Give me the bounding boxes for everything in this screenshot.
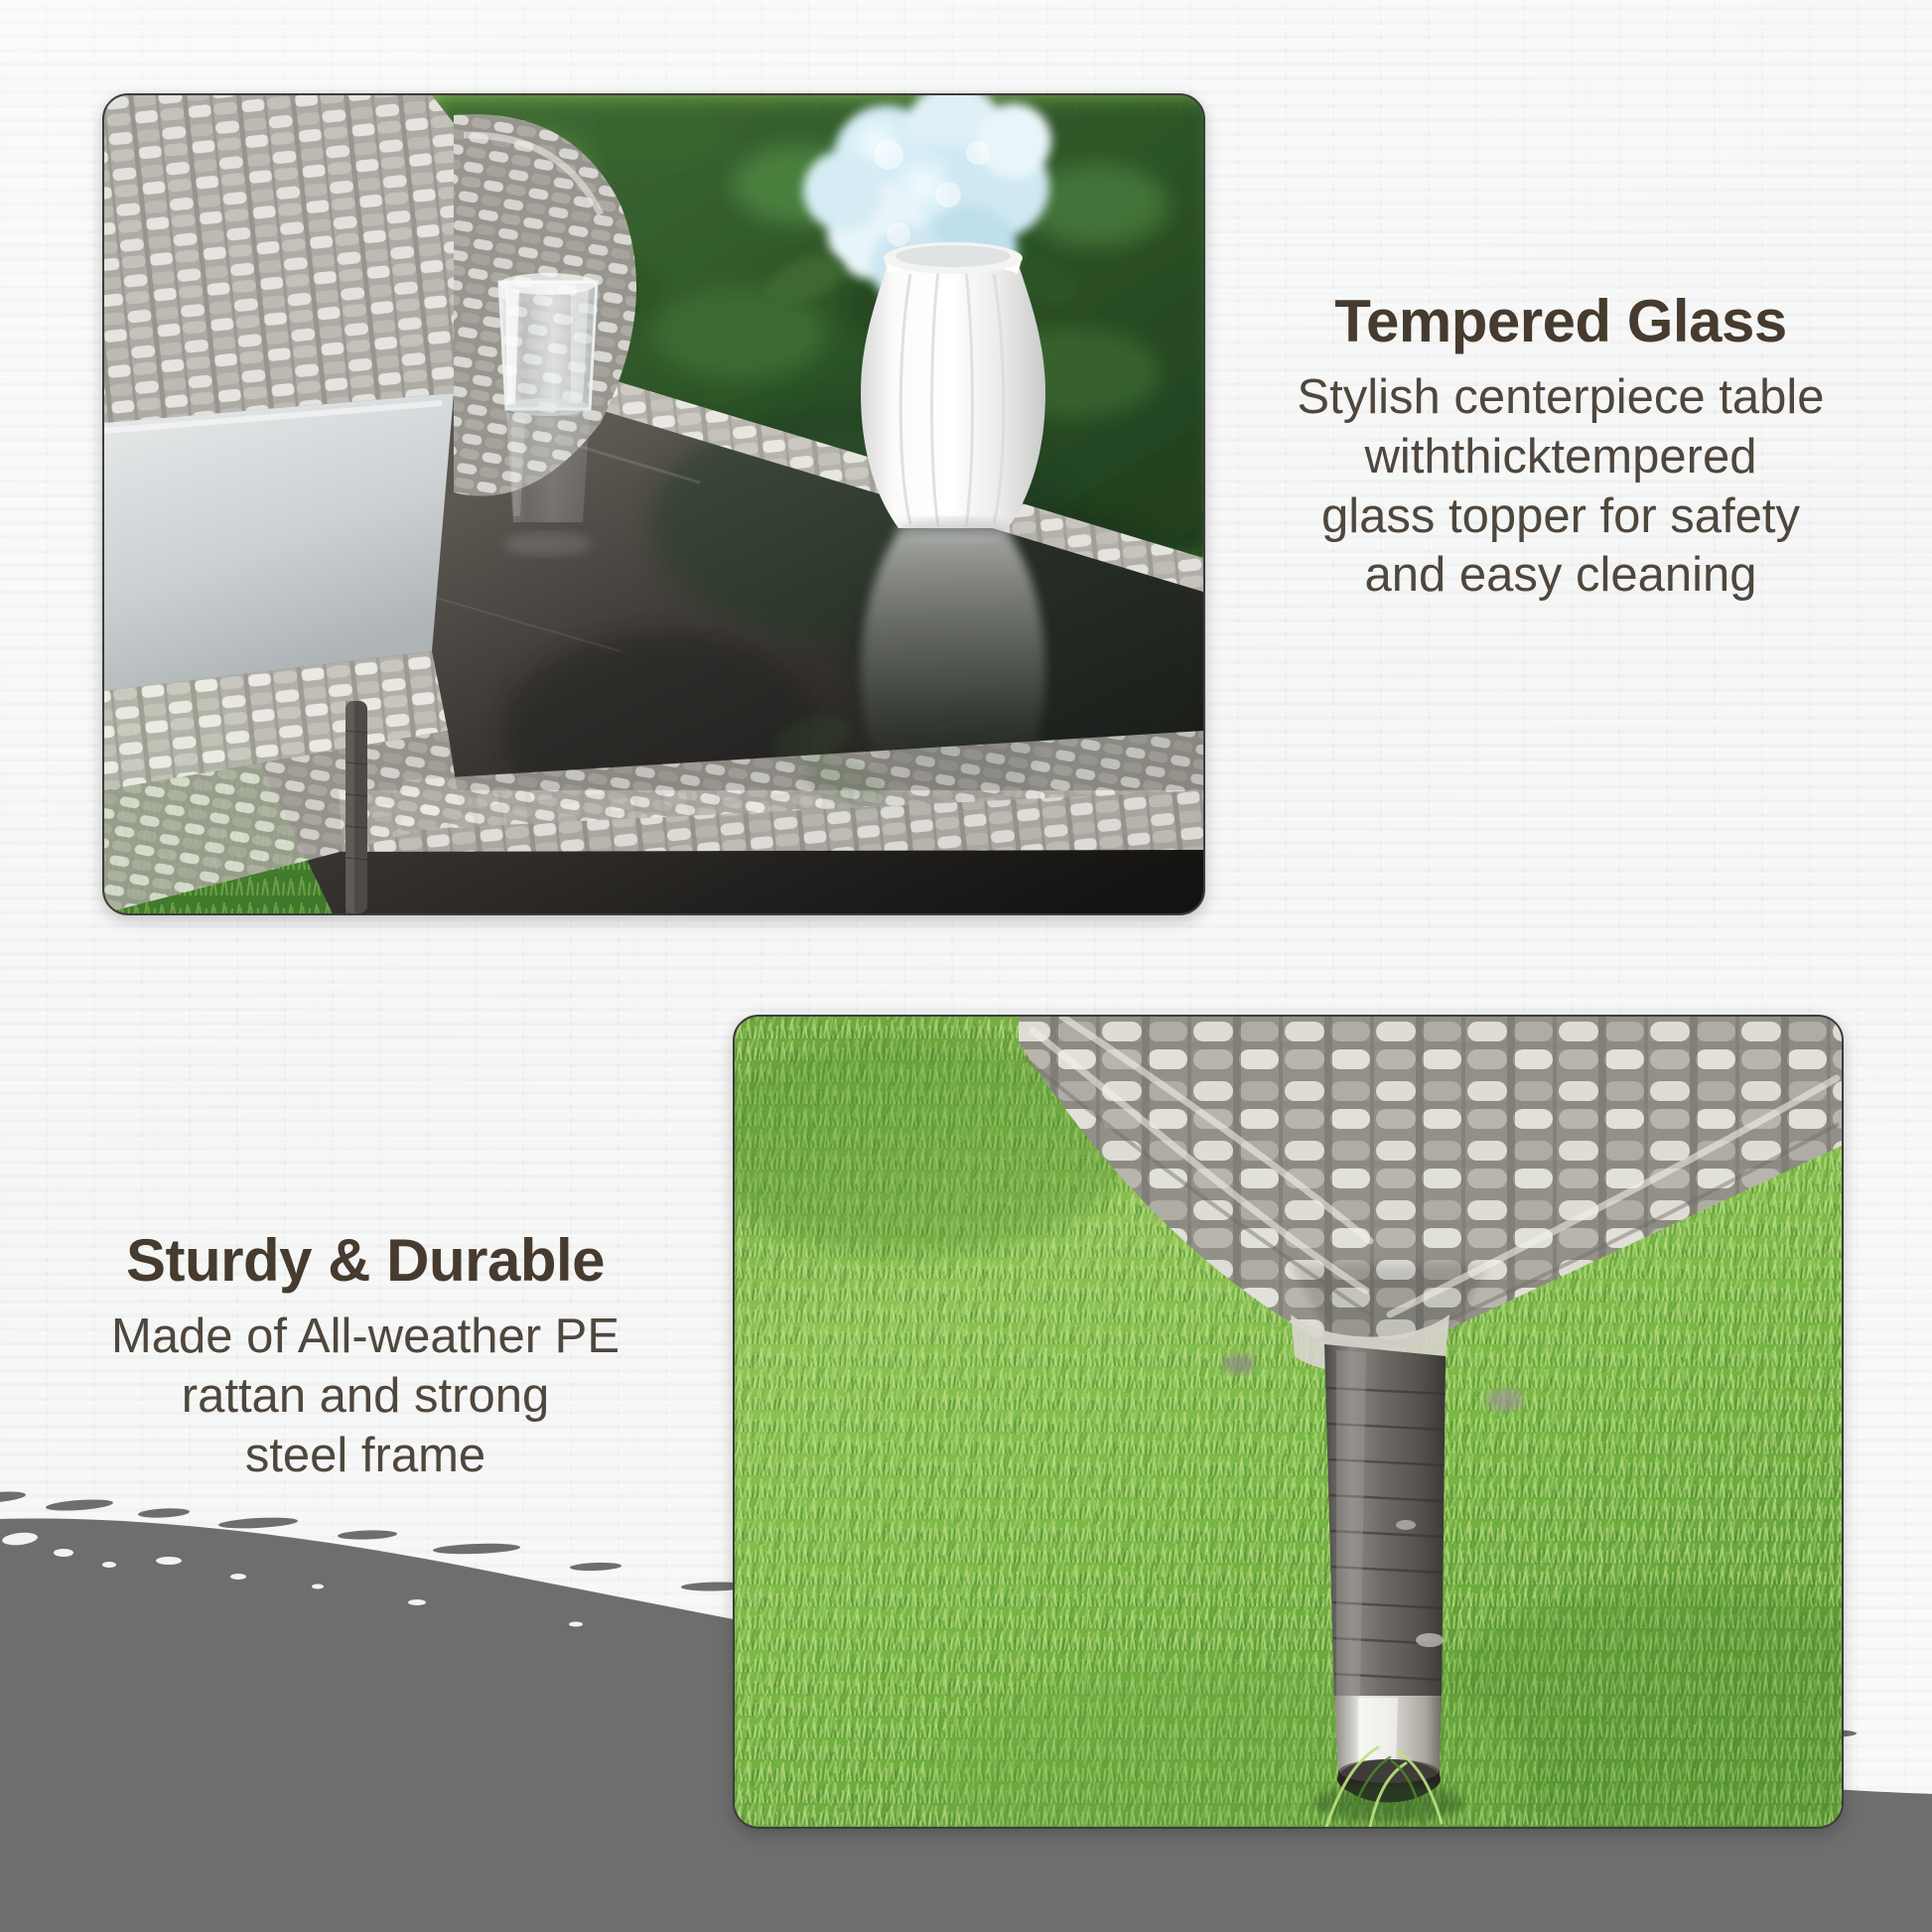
rattan-leg-photo: [733, 1015, 1844, 1829]
feature-text-tempered-glass: Tempered Glass Stylish centerpiece table…: [1213, 290, 1908, 606]
glass-tabletop-photo: [102, 93, 1205, 915]
body-line: Stylish centerpiece table: [1213, 368, 1908, 428]
feature-heading-sturdy-durable: Sturdy & Durable: [28, 1229, 703, 1292]
body-line: withthicktempered: [1213, 428, 1908, 487]
body-line: and easy cleaning: [1213, 546, 1908, 606]
feature-body-tempered-glass: Stylish centerpiece table withthicktempe…: [1213, 368, 1908, 606]
body-line: glass topper for safety: [1213, 487, 1908, 547]
feature-heading-tempered-glass: Tempered Glass: [1213, 290, 1908, 352]
poster-canvas: Tempered Glass Stylish centerpiece table…: [0, 0, 1932, 1932]
